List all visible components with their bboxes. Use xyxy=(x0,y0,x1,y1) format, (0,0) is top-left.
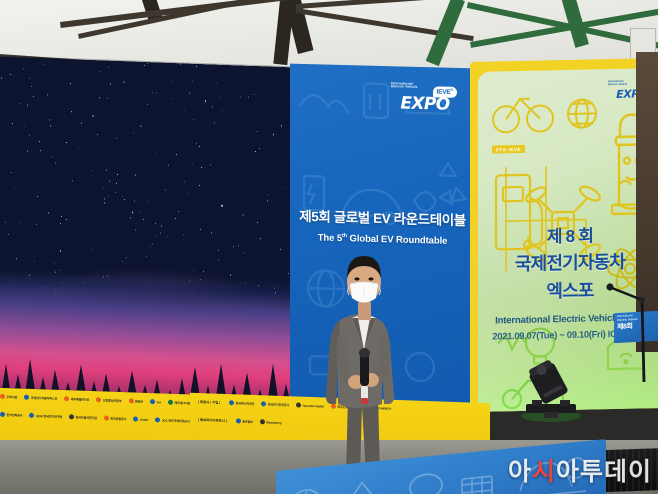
sponsor-logo: 한국공항공사 xyxy=(104,415,126,421)
star-dot xyxy=(104,198,105,199)
star-dot xyxy=(115,192,116,193)
sponsor-name: 3rd xyxy=(156,400,160,404)
star-dot xyxy=(48,212,49,213)
star-dot xyxy=(257,131,258,132)
star-dot xyxy=(259,148,260,149)
star-dot xyxy=(55,162,56,163)
star-dot xyxy=(133,133,134,134)
watermark-part1: 아 xyxy=(508,457,532,486)
star-dot xyxy=(268,194,269,195)
star-dot xyxy=(176,154,177,155)
sponsor-name: KAIST xyxy=(140,417,149,421)
star-dot xyxy=(216,83,217,84)
star-dot xyxy=(285,187,286,188)
star-dot xyxy=(19,103,20,104)
star-dot xyxy=(130,217,131,218)
star-dot xyxy=(147,63,148,64)
sponsor-mark-icon xyxy=(24,395,29,400)
star-dot xyxy=(37,196,38,197)
sponsor-name: Bloomberg xyxy=(266,420,281,425)
star-dot xyxy=(172,81,173,82)
sponsor-mark-icon xyxy=(261,401,266,406)
star-dot xyxy=(66,142,67,143)
star-dot xyxy=(24,125,26,127)
sponsor-mark-icon xyxy=(150,399,155,404)
star-dot xyxy=(19,222,20,223)
star-dot xyxy=(161,225,162,226)
star-dot xyxy=(199,146,200,147)
star-dot xyxy=(108,195,109,196)
wheel-icon xyxy=(406,353,434,382)
star-dot xyxy=(43,64,44,65)
star-dot xyxy=(117,173,118,174)
star-dot xyxy=(152,92,153,93)
sponsor-name: 한국자동차연구원 xyxy=(76,415,97,420)
star-dot xyxy=(23,68,24,69)
star-dot xyxy=(240,96,241,97)
sponsor-name: 한국에너지공단 xyxy=(236,401,255,406)
star-dot xyxy=(260,238,261,239)
star-dot xyxy=(140,126,141,127)
star-dot xyxy=(110,84,111,85)
sponsor-section-header: | 해외미디어파트너 | xyxy=(196,417,229,423)
star-dot xyxy=(52,156,53,157)
star-dot xyxy=(36,224,37,225)
star-dot xyxy=(122,196,123,197)
star-dot xyxy=(172,98,173,99)
star-dot xyxy=(12,123,13,124)
star-dot xyxy=(143,219,144,220)
star-dot xyxy=(155,223,156,224)
star-dot xyxy=(221,205,223,207)
star-dot xyxy=(61,216,62,217)
sponsor-logo: 환경부 xyxy=(129,398,143,404)
star-dot xyxy=(243,253,244,254)
star-dot xyxy=(248,96,249,97)
star-dot xyxy=(196,143,197,144)
star-dot xyxy=(201,167,202,168)
sponsor-section-header: | 후원사 / 기업 | xyxy=(196,399,222,405)
star-dot xyxy=(184,181,185,182)
star-dot xyxy=(242,214,244,216)
expo-title-line1: 제 8 회 xyxy=(478,220,658,249)
sponsor-mark-icon xyxy=(229,400,234,405)
sponsor-name: 한국전기안전공사 xyxy=(268,402,289,407)
star-dot xyxy=(218,259,220,261)
star-dot xyxy=(91,170,92,171)
star-dot xyxy=(33,96,34,97)
sponsor-name: 국제전기자동차엑스포 xyxy=(31,395,58,400)
star-dot xyxy=(14,188,15,189)
star-dot xyxy=(280,248,281,249)
star-dot xyxy=(78,146,79,147)
star-dot xyxy=(29,77,30,78)
sponsor-name: 주최기관 xyxy=(7,395,18,399)
logo-ieve-bubble: IEVE® xyxy=(433,86,457,98)
star-dot xyxy=(50,126,51,127)
star-dot xyxy=(144,64,145,65)
star-dot xyxy=(122,261,124,263)
sponsor-logo: 중앙일보 xyxy=(236,418,253,424)
star-dot xyxy=(10,74,11,75)
sponsor-logo: 한국전기안전공사 xyxy=(261,401,289,407)
sponsor-mark-icon xyxy=(69,414,74,419)
sponsor-name: 중앙일보 xyxy=(242,419,253,423)
sponsor-mark-icon xyxy=(104,415,109,420)
star-dot xyxy=(107,97,108,98)
star-dot xyxy=(99,97,100,98)
sponsor-logo: 3rd xyxy=(150,399,161,404)
sponsor-logo: KAIST xyxy=(133,416,148,422)
star-dot xyxy=(210,164,211,165)
sponsor-name: 제주특별자치도 xyxy=(71,397,90,402)
star-dot xyxy=(267,200,268,201)
star-dot xyxy=(70,83,71,84)
star-dot xyxy=(135,229,136,230)
star-dot xyxy=(192,81,193,82)
star-dot xyxy=(97,134,98,135)
star-dot xyxy=(168,164,169,165)
sponsor-mark-icon xyxy=(29,413,34,418)
sponsor-logo: 제주특별자치도 xyxy=(64,396,89,402)
star-dot xyxy=(109,180,110,181)
sponsor-name: 한국전력공사 xyxy=(7,413,23,418)
star-dot xyxy=(139,211,140,212)
star-dot xyxy=(205,101,206,102)
star-dot xyxy=(49,120,50,121)
star-dot xyxy=(71,111,72,112)
sponsor-logo: 산업통상자원부 xyxy=(96,397,121,403)
star-dot xyxy=(155,236,156,237)
star-dot xyxy=(72,180,73,181)
star-dot xyxy=(132,212,134,214)
sponsor-logo: 주최기관 xyxy=(0,394,17,400)
sponsor-mark-icon xyxy=(129,398,134,403)
sponsor-logo: 한국전력공사 xyxy=(0,412,22,418)
star-dot xyxy=(180,64,181,65)
star-dot xyxy=(27,151,28,152)
star-dot xyxy=(222,109,223,110)
star-dot xyxy=(31,86,32,87)
star-dot xyxy=(273,134,275,136)
star-dot xyxy=(5,222,6,223)
sponsor-name: 산업통상자원부 xyxy=(103,398,122,403)
star-dot xyxy=(192,163,193,164)
star-dot xyxy=(220,96,221,97)
star-dot xyxy=(135,174,136,175)
star-dot xyxy=(156,153,157,154)
star-dot xyxy=(146,256,147,257)
star-dot xyxy=(257,222,258,223)
star-dot xyxy=(1,77,2,78)
recycle-icon xyxy=(440,164,456,176)
star-dot xyxy=(108,67,109,68)
watermark-part2: 아투데이 xyxy=(556,457,652,486)
star-dot xyxy=(116,138,117,139)
star-dot xyxy=(60,250,61,251)
sponsor-mark-icon xyxy=(64,396,69,401)
star-dot xyxy=(66,219,67,220)
star-dot xyxy=(156,93,157,94)
speaker-person xyxy=(318,246,410,476)
sponsor-logo: 한국에너지공단 xyxy=(229,400,254,406)
boom-mic-stand xyxy=(598,282,658,392)
star-dot xyxy=(8,234,9,235)
star-dot xyxy=(254,93,255,94)
publication-watermark: 아시아투데이 xyxy=(505,452,655,488)
roundtable-title-block: 제5회 글로벌 EV 라운드테이블 The 5th Global EV Roun… xyxy=(290,205,475,248)
sponsor-name: KERI 한국전기연구원 xyxy=(36,414,62,419)
star-dot xyxy=(238,245,239,246)
star-dot xyxy=(147,104,148,105)
star-dot xyxy=(184,109,185,110)
night-sky-panel xyxy=(0,56,298,412)
star-dot xyxy=(199,185,200,186)
star-dot xyxy=(183,234,184,235)
star-dot xyxy=(152,243,153,244)
mountain-icon xyxy=(300,95,348,113)
battery-icon xyxy=(364,84,388,119)
star-dot xyxy=(91,249,92,250)
star-dot xyxy=(148,201,149,202)
star-dot xyxy=(40,150,41,151)
sponsor-logo: 국제전기자동차엑스포 xyxy=(24,395,57,401)
star-dot xyxy=(175,218,176,219)
star-dot xyxy=(150,246,151,247)
star-dot xyxy=(196,66,197,67)
star-dot xyxy=(167,236,168,237)
star-dot xyxy=(106,170,107,171)
sponsor-mark-icon xyxy=(236,418,241,423)
star-dot xyxy=(134,200,135,201)
roundtable-title-kr: 제5회 글로벌 EV 라운드테이블 xyxy=(290,205,475,230)
star-dot xyxy=(92,115,94,117)
star-dot xyxy=(189,92,190,93)
sponsor-mark-icon xyxy=(0,412,5,417)
star-dot xyxy=(126,257,127,258)
star-dot xyxy=(100,72,101,73)
star-dot xyxy=(11,172,12,173)
star-dot xyxy=(103,187,104,188)
star-dot xyxy=(255,151,256,152)
sponsor-logo: KERI 한국전기연구원 xyxy=(29,413,62,419)
star-dot xyxy=(16,258,17,259)
bicycle-icon xyxy=(493,98,553,132)
globe-icon xyxy=(568,99,596,128)
star-dot xyxy=(123,81,125,83)
star-dot xyxy=(187,192,188,193)
star-dot xyxy=(218,249,219,250)
star-dot xyxy=(146,252,147,253)
star-dot xyxy=(47,94,48,95)
star-dot xyxy=(60,223,61,224)
star-dot xyxy=(281,125,282,126)
star-dot xyxy=(233,246,234,247)
star-dot xyxy=(124,199,125,200)
star-dot xyxy=(27,104,28,105)
star-dot xyxy=(29,135,30,136)
star-dot xyxy=(104,203,105,204)
star-dot xyxy=(178,211,179,212)
star-dot xyxy=(200,229,201,230)
star-dot xyxy=(212,106,213,107)
expo-title-line2: 국제전기자동차 xyxy=(478,247,658,277)
sponsor-name: 환경부 xyxy=(135,399,143,403)
stage-moving-light xyxy=(516,360,586,422)
sponsor-mark-icon xyxy=(133,416,138,421)
sponsor-logo: Bloomberg xyxy=(260,419,281,425)
ieve-edition-tag: 8TH IEVE xyxy=(492,145,525,154)
sponsor-mark-icon xyxy=(155,417,160,422)
star-dot xyxy=(160,232,161,233)
sponsor-name: 한국공항공사 xyxy=(110,416,126,421)
star-dot xyxy=(39,141,40,142)
star-dot xyxy=(244,152,245,153)
sponsor-logo: 한국자동차연구원 xyxy=(69,414,97,420)
sponsor-mark-icon xyxy=(296,402,301,407)
star-dot xyxy=(211,232,212,233)
star-dot xyxy=(116,183,117,184)
star-dot xyxy=(81,123,82,124)
ieve-expo-logo: International Electric Vehicle IEVE® EXP… xyxy=(389,82,461,114)
photo-stage: International Electric Vehicle IEVE® EXP… xyxy=(0,0,658,494)
sponsor-mark-icon xyxy=(0,394,5,399)
sponsor-mark-icon xyxy=(260,419,265,424)
sponsor-mark-icon xyxy=(168,400,173,405)
star-dot xyxy=(214,122,215,123)
star-dot xyxy=(193,119,194,120)
sponsor-mark-icon xyxy=(96,397,101,402)
star-dot xyxy=(165,190,166,191)
watermark-accent: 시 xyxy=(532,457,556,486)
